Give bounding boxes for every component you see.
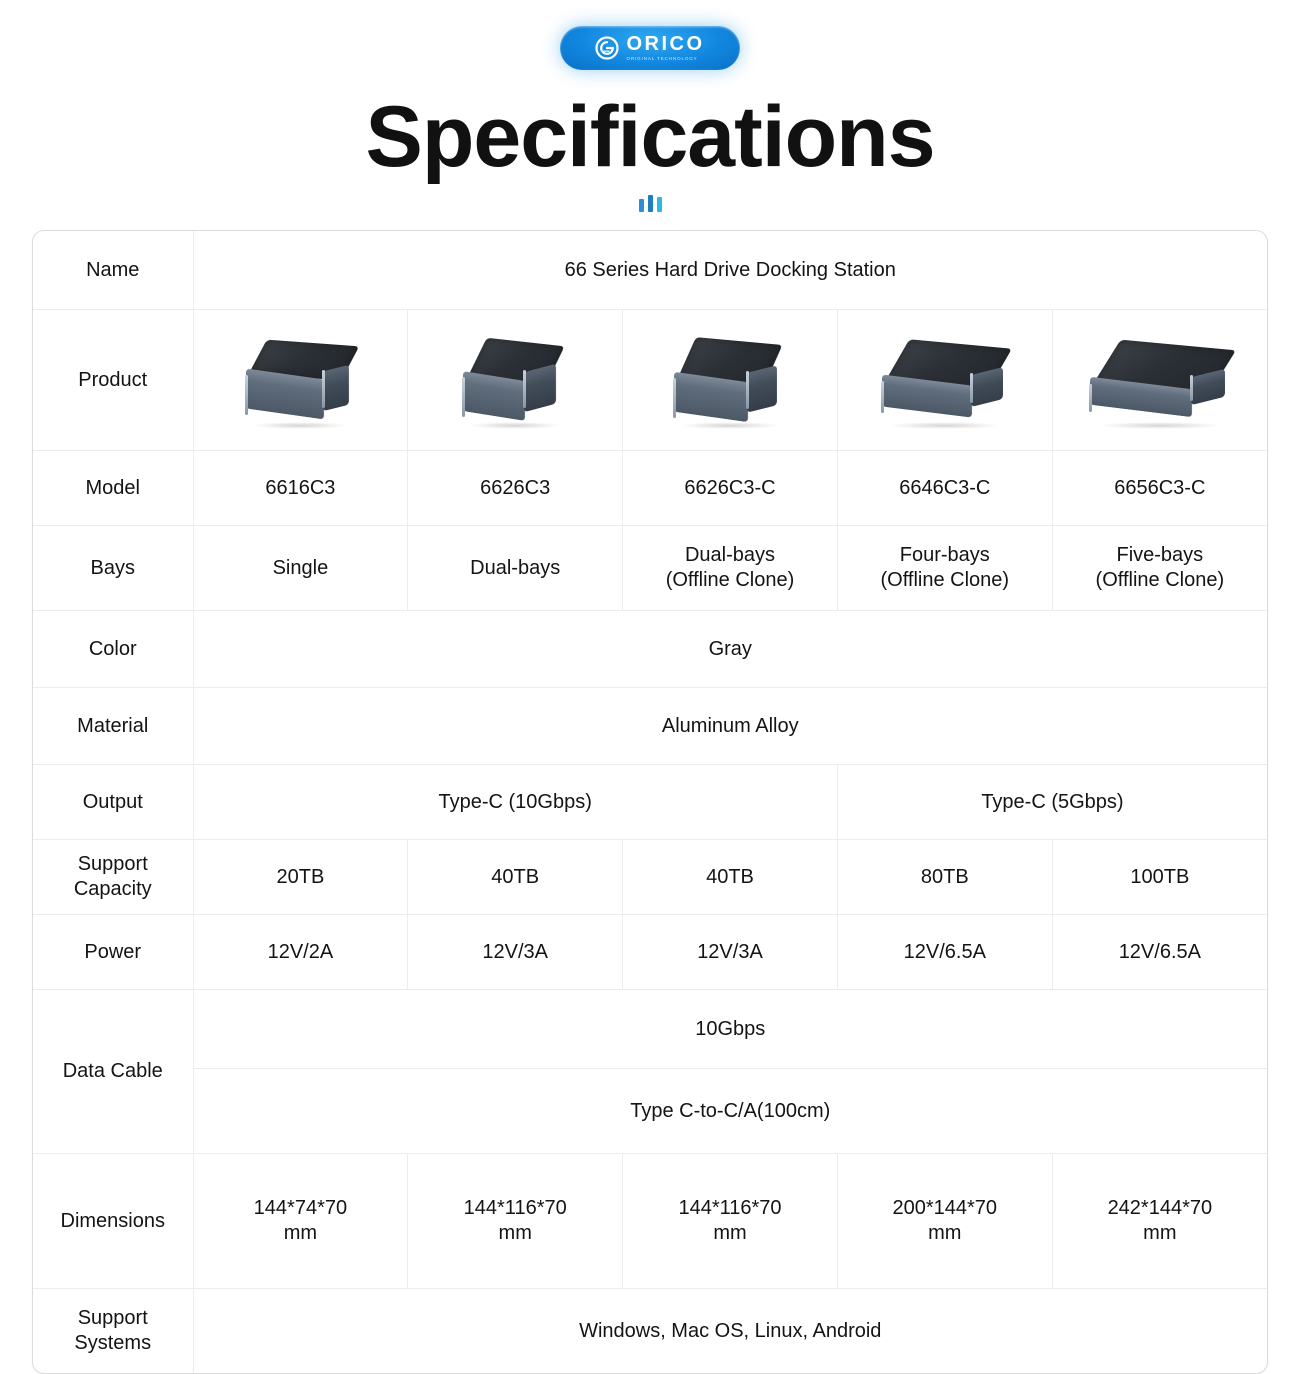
cell-model-3: 6626C3-C <box>623 451 838 526</box>
orico-g-mark-icon <box>595 36 619 60</box>
table-row-support-capacity: Support Capacity 20TB 40TB 40TB 80TB 100… <box>33 840 1267 915</box>
product-image-6656c3-c <box>1052 310 1267 451</box>
cell-support-systems-value: Windows, Mac OS, Linux, Android <box>193 1289 1267 1374</box>
cell-power-3: 12V/3A <box>623 915 838 990</box>
deco-bar-1 <box>639 199 644 212</box>
table-row-name: Name 66 Series Hard Drive Docking Statio… <box>33 231 1267 310</box>
docking-station-five-bay-clone-icon <box>1075 325 1245 435</box>
cell-material-value: Aluminum Alloy <box>193 688 1267 765</box>
docking-station-single-bay-icon <box>215 325 385 435</box>
row-label-dimensions: Dimensions <box>33 1154 193 1289</box>
row-label-color: Color <box>33 611 193 688</box>
cell-dimensions-3: 144*116*70 mm <box>623 1154 838 1289</box>
deco-bar-3 <box>657 197 662 212</box>
table-row-color: Color Gray <box>33 611 1267 688</box>
brand-logo-area: ORICO ORIGINAL TECHNOLOGY <box>0 0 1300 70</box>
orico-logo-pill: ORICO ORIGINAL TECHNOLOGY <box>560 26 740 70</box>
cell-bays-2: Dual-bays <box>408 526 623 611</box>
page-title: Specifications <box>0 92 1300 182</box>
cell-bays-5: Five-bays (Offline Clone) <box>1052 526 1267 611</box>
row-label-material: Material <box>33 688 193 765</box>
cell-power-1: 12V/2A <box>193 915 408 990</box>
specifications-table: Name 66 Series Hard Drive Docking Statio… <box>32 230 1268 1374</box>
table-row-support-systems: Support Systems Windows, Mac OS, Linux, … <box>33 1289 1267 1374</box>
cell-data-cable-type: Type C-to-C/A(100cm) <box>193 1069 1267 1154</box>
row-label-support-capacity: Support Capacity <box>33 840 193 915</box>
cell-capacity-4: 80TB <box>837 840 1052 915</box>
cell-model-4: 6646C3-C <box>837 451 1052 526</box>
row-label-output: Output <box>33 765 193 840</box>
cell-model-2: 6626C3 <box>408 451 623 526</box>
cell-capacity-3: 40TB <box>623 840 838 915</box>
logo-wordmark: ORICO <box>626 34 704 54</box>
deco-bar-2 <box>648 195 653 212</box>
row-label-name: Name <box>33 231 193 310</box>
table-row-output: Output Type-C (10Gbps) Type-C (5Gbps) <box>33 765 1267 840</box>
docking-station-dual-bay-clone-icon <box>645 325 815 435</box>
docking-station-four-bay-clone-icon <box>860 325 1030 435</box>
cell-dimensions-2: 144*116*70 mm <box>408 1154 623 1289</box>
logo-tagline: ORIGINAL TECHNOLOGY <box>626 57 697 62</box>
docking-station-dual-bay-icon <box>430 325 600 435</box>
cell-capacity-1: 20TB <box>193 840 408 915</box>
cell-data-cable-speed: 10Gbps <box>193 990 1267 1069</box>
row-label-model: Model <box>33 451 193 526</box>
cell-model-5: 6656C3-C <box>1052 451 1267 526</box>
table-row-dimensions: Dimensions 144*74*70 mm 144*116*70 mm 14… <box>33 1154 1267 1289</box>
row-label-power: Power <box>33 915 193 990</box>
cell-power-4: 12V/6.5A <box>837 915 1052 990</box>
cell-dimensions-1: 144*74*70 mm <box>193 1154 408 1289</box>
table-row-data-cable-type: Type C-to-C/A(100cm) <box>33 1069 1267 1154</box>
cell-bays-3: Dual-bays (Offline Clone) <box>623 526 838 611</box>
cell-output-5gbps: Type-C (5Gbps) <box>837 765 1267 840</box>
product-image-6616c3 <box>193 310 408 451</box>
row-label-support-systems: Support Systems <box>33 1289 193 1374</box>
cell-color-value: Gray <box>193 611 1267 688</box>
row-label-data-cable: Data Cable <box>33 990 193 1154</box>
cell-bays-1: Single <box>193 526 408 611</box>
table-row-product: Product <box>33 310 1267 451</box>
cell-model-1: 6616C3 <box>193 451 408 526</box>
cell-output-10gbps: Type-C (10Gbps) <box>193 765 837 840</box>
product-image-6626c3 <box>408 310 623 451</box>
cell-capacity-5: 100TB <box>1052 840 1267 915</box>
cell-dimensions-5: 242*144*70 mm <box>1052 1154 1267 1289</box>
table-row-bays: Bays Single Dual-bays Dual-bays (Offline… <box>33 526 1267 611</box>
row-label-product: Product <box>33 310 193 451</box>
table-row-material: Material Aluminum Alloy <box>33 688 1267 765</box>
product-image-6646c3-c <box>837 310 1052 451</box>
row-label-bays: Bays <box>33 526 193 611</box>
cell-name-value: 66 Series Hard Drive Docking Station <box>193 231 1267 310</box>
product-image-6626c3-c <box>623 310 838 451</box>
cell-capacity-2: 40TB <box>408 840 623 915</box>
table-row-data-cable-speed: Data Cable 10Gbps <box>33 990 1267 1069</box>
cell-power-5: 12V/6.5A <box>1052 915 1267 990</box>
cell-power-2: 12V/3A <box>408 915 623 990</box>
cell-dimensions-4: 200*144*70 mm <box>837 1154 1052 1289</box>
table-row-model: Model 6616C3 6626C3 6626C3-C 6646C3-C 66… <box>33 451 1267 526</box>
cell-bays-4: Four-bays (Offline Clone) <box>837 526 1052 611</box>
three-bars-icon <box>0 192 1300 212</box>
table-row-power: Power 12V/2A 12V/3A 12V/3A 12V/6.5A 12V/… <box>33 915 1267 990</box>
